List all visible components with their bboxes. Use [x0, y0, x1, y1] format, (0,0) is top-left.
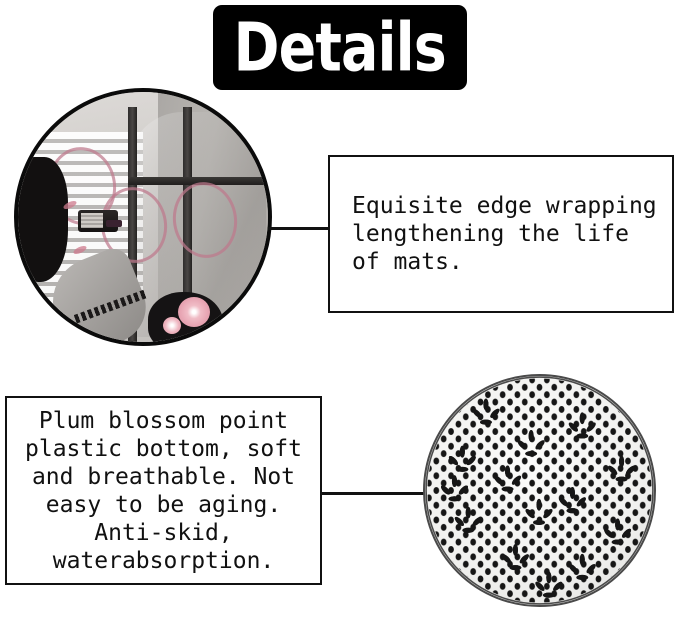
callout-plastic-bottom-text: Plum blossom point plastic bottom, soft …	[15, 407, 312, 575]
photo-bottle-neck	[106, 220, 122, 227]
callout-edge-wrapping: Equisite edge wrapping lengthening the l…	[328, 155, 674, 313]
connector-line-top	[268, 227, 330, 230]
connector-line-bottom	[320, 492, 428, 495]
details-title-banner: Details	[213, 5, 467, 90]
details-infographic: Details Equisite ed	[0, 0, 679, 619]
mat-backing-closeup	[423, 374, 656, 607]
page-title: Details	[234, 14, 446, 81]
callout-plastic-bottom: Plum blossom point plastic bottom, soft …	[5, 396, 322, 585]
mat-pattern-svg	[425, 376, 654, 605]
bathroom-mat-scene-photo	[14, 88, 272, 346]
callout-edge-wrapping-text: Equisite edge wrapping lengthening the l…	[352, 192, 666, 276]
photo-pink-flower	[178, 297, 210, 327]
photo-pink-flower-small	[163, 317, 181, 334]
photo-scene	[18, 92, 268, 342]
photo-dark-silhouette	[14, 157, 68, 282]
